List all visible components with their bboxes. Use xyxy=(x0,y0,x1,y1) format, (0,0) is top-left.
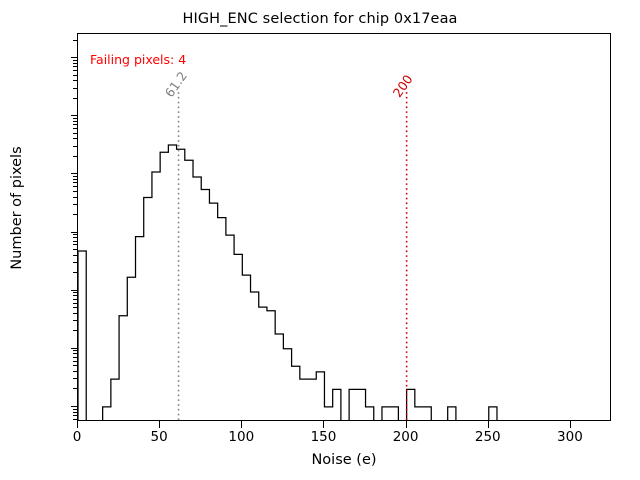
y-tick-minor-mark xyxy=(73,241,77,242)
y-tick-minor-mark xyxy=(73,299,77,300)
x-tick-mark xyxy=(159,421,160,428)
y-tick-minor-mark xyxy=(73,156,77,157)
y-tick-minor-mark xyxy=(73,75,77,76)
y-tick-minor-mark xyxy=(73,234,77,235)
y-tick-minor-mark xyxy=(73,292,77,293)
y-tick-minor-mark xyxy=(73,182,77,183)
x-tick-label: 50 xyxy=(151,429,168,445)
y-tick-mark xyxy=(71,173,78,174)
y-tick-mark xyxy=(71,232,78,233)
y-tick-minor-mark xyxy=(73,262,77,263)
y-tick-minor-mark xyxy=(73,313,77,314)
y-tick-mark xyxy=(71,290,78,291)
histogram-step-outline xyxy=(78,145,497,421)
x-axis-label: Noise (e) xyxy=(77,452,611,468)
y-tick-mark xyxy=(71,348,78,349)
y-tick-minor-mark xyxy=(73,409,77,410)
x-tick-label: 150 xyxy=(311,429,337,445)
y-tick-minor-mark xyxy=(73,415,77,416)
x-tick-label: 250 xyxy=(475,429,501,445)
figure-canvas: HIGH_ENC selection for chip 0x17eaa 1001… xyxy=(0,0,640,480)
x-tick-mark xyxy=(77,421,78,428)
x-tick-label: 0 xyxy=(73,429,82,445)
y-tick-minor-mark xyxy=(73,320,77,321)
y-tick-minor-mark xyxy=(73,80,77,81)
y-tick-minor-mark xyxy=(73,353,77,354)
y-tick-mark xyxy=(71,115,78,116)
y-tick-minor-mark xyxy=(73,66,77,67)
x-tick-mark xyxy=(570,421,571,428)
y-tick-minor-mark xyxy=(73,378,77,379)
y-tick-minor-mark xyxy=(73,176,77,177)
y-tick-minor-mark xyxy=(73,197,77,198)
y-tick-mark xyxy=(71,406,78,407)
x-tick-label: 100 xyxy=(228,429,254,445)
y-tick-minor-mark xyxy=(73,186,77,187)
y-tick-mark xyxy=(71,57,78,58)
y-tick-minor-mark xyxy=(73,357,77,358)
y-tick-minor-mark xyxy=(73,330,77,331)
y-tick-minor-mark xyxy=(73,244,77,245)
y-tick-minor-mark xyxy=(73,138,77,139)
y-tick-minor-mark xyxy=(73,118,77,119)
y-tick-minor-mark xyxy=(73,295,77,296)
y-tick-minor-mark xyxy=(73,191,77,192)
x-tick-mark xyxy=(488,421,489,428)
y-tick-minor-mark xyxy=(73,121,77,122)
y-tick-minor-mark xyxy=(73,419,77,420)
vertical-marker-lines xyxy=(179,92,407,421)
y-tick-minor-mark xyxy=(73,133,77,134)
x-tick-mark xyxy=(406,421,407,428)
y-tick-minor-mark xyxy=(73,214,77,215)
y-tick-minor-mark xyxy=(73,272,77,273)
chart-title: HIGH_ENC selection for chip 0x17eaa xyxy=(0,11,640,27)
y-tick-minor-mark xyxy=(73,371,77,372)
y-tick-minor-mark xyxy=(73,237,77,238)
y-axis-label: Number of pixels xyxy=(9,8,25,408)
failing-pixels-annotation: Failing pixels: 4 xyxy=(90,52,186,67)
y-tick-minor-mark xyxy=(73,98,77,99)
y-tick-minor-mark xyxy=(73,361,77,362)
y-tick-minor-mark xyxy=(73,307,77,308)
histogram-plot xyxy=(78,34,611,421)
x-tick-label: 200 xyxy=(393,429,419,445)
y-tick-minor-mark xyxy=(73,124,77,125)
y-tick-minor-mark xyxy=(73,350,77,351)
y-tick-minor-mark xyxy=(73,128,77,129)
y-tick-minor-mark xyxy=(73,388,77,389)
y-tick-minor-mark xyxy=(73,146,77,147)
y-tick-minor-mark xyxy=(73,63,77,64)
y-tick-minor-mark xyxy=(73,412,77,413)
y-tick-minor-mark xyxy=(73,60,77,61)
plot-area xyxy=(77,33,611,421)
y-tick-minor-mark xyxy=(73,179,77,180)
y-tick-minor-mark xyxy=(73,255,77,256)
y-tick-minor-mark xyxy=(73,249,77,250)
x-tick-mark xyxy=(323,421,324,428)
y-tick-minor-mark xyxy=(73,204,77,205)
x-tick-label: 300 xyxy=(557,429,583,445)
y-tick-minor-mark xyxy=(73,303,77,304)
y-tick-minor-mark xyxy=(73,40,77,41)
x-tick-mark xyxy=(241,421,242,428)
y-tick-minor-mark xyxy=(73,88,77,89)
y-tick-minor-mark xyxy=(73,365,77,366)
y-tick-minor-mark xyxy=(73,70,77,71)
